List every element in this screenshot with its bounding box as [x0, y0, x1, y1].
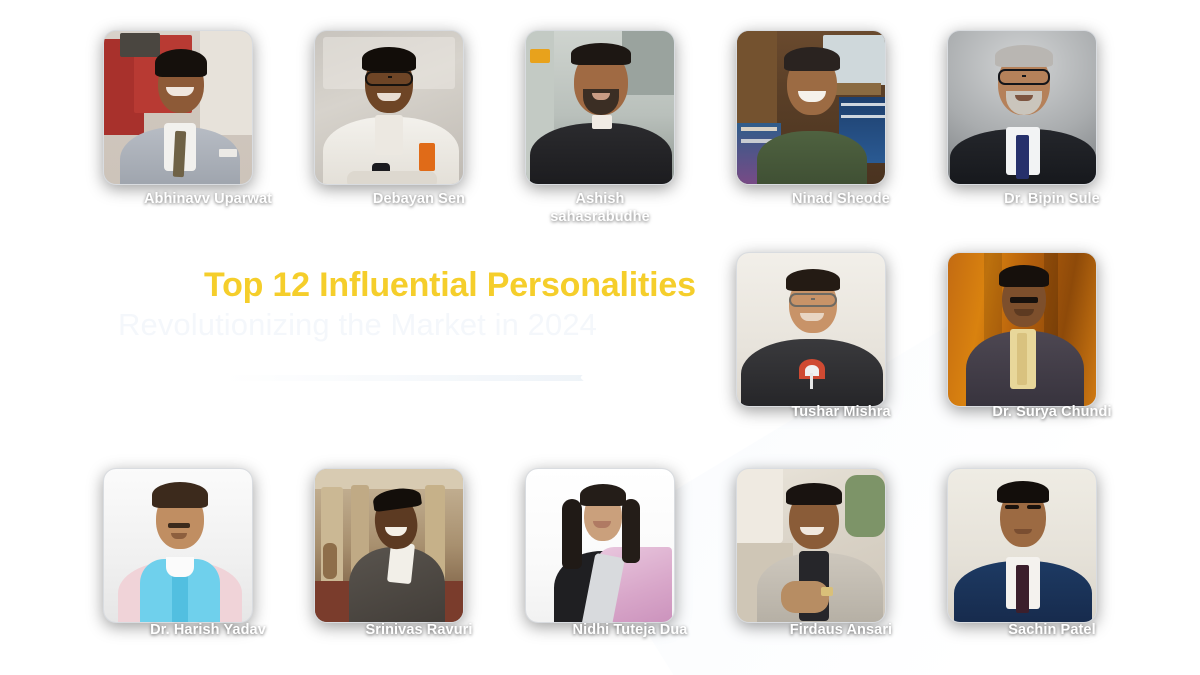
person-name-srinivas-ravuri: Srinivas Ravuri [324, 621, 514, 639]
person-card-dr-surya-chundi[interactable] [947, 252, 1097, 407]
person-card-dr-harish-yadav[interactable] [103, 468, 253, 623]
person-card-dr-bipin-sule[interactable] [947, 30, 1097, 185]
person-card-ashish-sahasrabudhe[interactable] [525, 30, 675, 185]
headline-divider [213, 366, 603, 390]
person-photo-firdaus-ansari [737, 469, 885, 622]
poster-canvas: Abhinavv Uparwat Debayan Sen [30, 0, 1175, 675]
person-card-sachin-patel[interactable] [947, 468, 1097, 623]
diamond-right-icon [580, 364, 607, 391]
person-name-firdaus-ansari: Firdaus Ansari [746, 621, 936, 639]
person-card-ninad-sheode[interactable] [736, 30, 886, 185]
person-photo-dr-surya-chundi [948, 253, 1096, 406]
person-photo-srinivas-ravuri [315, 469, 463, 622]
divider-bar [225, 375, 591, 381]
person-photo-nidhi-tuteja-dua [526, 469, 674, 622]
person-name-tushar-mishra: Tushar Mishra [746, 403, 936, 421]
person-photo-ashish-sahasrabudhe [526, 31, 674, 184]
person-card-nidhi-tuteja-dua[interactable] [525, 468, 675, 623]
person-card-abhinavv-uparwat[interactable] [103, 30, 253, 185]
person-card-tushar-mishra[interactable] [736, 252, 886, 407]
person-photo-abhinavv-uparwat [104, 31, 252, 184]
person-photo-tushar-mishra [737, 253, 885, 406]
person-photo-dr-bipin-sule [948, 31, 1096, 184]
poster-root: Abhinavv Uparwat Debayan Sen [0, 0, 1200, 675]
person-photo-dr-harish-yadav [104, 469, 252, 622]
headline-prefix: Meet [118, 266, 204, 304]
person-name-sachin-patel: Sachin Patel [957, 621, 1147, 639]
person-name-dr-bipin-sule: Dr. Bipin Sule [957, 190, 1147, 208]
person-photo-debayan-sen [315, 31, 463, 184]
person-name-nidhi-tuteja-dua: Nidhi Tuteja Dua [535, 621, 725, 639]
headline-line-1: Meet Top 12 Influential Personalities [118, 266, 738, 305]
person-name-ashish-sahasrabudhe: Ashishsahasrabudhe [535, 190, 665, 226]
headline-block: Meet Top 12 Influential Personalities Re… [118, 266, 738, 346]
person-name-ninad-sheode: Ninad Sheode [746, 190, 936, 208]
person-name-abhinavv-uparwat: Abhinavv Uparwat [113, 190, 303, 208]
person-name-debayan-sen: Debayan Sen [324, 190, 514, 208]
headline-line-2: Revolutionizing the Market in 2024 [118, 305, 738, 345]
person-name-dr-harish-yadav: Dr. Harish Yadav [113, 621, 303, 639]
person-name-dr-surya-chundi: Dr. Surya Chundi [957, 403, 1147, 421]
person-photo-sachin-patel [948, 469, 1096, 622]
person-card-srinivas-ravuri[interactable] [314, 468, 464, 623]
person-card-debayan-sen[interactable] [314, 30, 464, 185]
person-photo-ninad-sheode [737, 31, 885, 184]
headline-accent: Top 12 Influential Personalities [204, 266, 696, 304]
person-card-firdaus-ansari[interactable] [736, 468, 886, 623]
